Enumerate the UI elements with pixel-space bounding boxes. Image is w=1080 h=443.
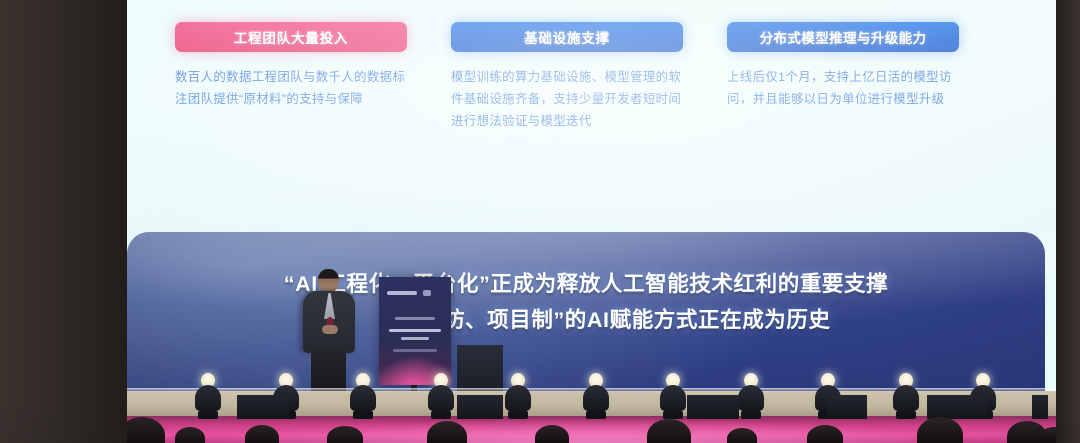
banner-text-block: “AI 工程化、平台化”正成为释放人工智能技术红利的重要支撑 “小作坊、项目制”… (127, 266, 1045, 338)
conference-stage-photo: 工程团队大量投入 数百人的数据工程团队与数千人的数据标注团队提供“原材料”的支持… (0, 0, 1080, 443)
column-3-body-text: 上线后仅1个月，支持上亿日活的模型访问，并且能够以日为单位进行模型升级 (727, 66, 959, 110)
venue-wall-right (1055, 0, 1080, 443)
venue-wall-left (0, 0, 128, 443)
slide-column-3: 分布式模型推理与升级能力 上线后仅1个月，支持上亿日活的模型访问，并且能够以日为… (727, 22, 959, 132)
projection-screen: 工程团队大量投入 数百人的数据工程团队与数千人的数据标注团队提供“原材料”的支持… (127, 0, 1056, 443)
banner-line-1: “AI 工程化、平台化”正成为释放人工智能技术红利的重要支撑 (127, 266, 1045, 302)
column-2-body-text: 模型训练的算力基础设施、模型管理的软件基础设施齐备，支持少量开发者短时间进行想法… (451, 66, 683, 132)
slide-column-1: 工程团队大量投入 数百人的数据工程团队与数千人的数据标注团队提供“原材料”的支持… (175, 22, 407, 132)
slide-columns: 工程团队大量投入 数百人的数据工程团队与数千人的数据标注团队提供“原材料”的支持… (175, 22, 1022, 132)
column-1-body-text: 数百人的数据工程团队与数千人的数据标注团队提供“原材料”的支持与保障 (175, 66, 407, 110)
column-2-badge: 基础设施支撑 (451, 22, 683, 52)
column-1-badge: 工程团队大量投入 (175, 22, 407, 52)
slide-column-2: 基础设施支撑 模型训练的算力基础设施、模型管理的软件基础设施齐备，支持少量开发者… (451, 22, 683, 132)
slide-content-area: 工程团队大量投入 数百人的数据工程团队与数千人的数据标注团队提供“原材料”的支持… (127, 0, 1056, 233)
banner-line-2: “小作坊、项目制”的AI赋能方式正在成为历史 (127, 302, 1045, 338)
column-3-badge: 分布式模型推理与升级能力 (727, 22, 959, 52)
slide-conclusion-banner: “AI 工程化、平台化”正成为释放人工智能技术红利的重要支撑 “小作坊、项目制”… (127, 232, 1045, 443)
